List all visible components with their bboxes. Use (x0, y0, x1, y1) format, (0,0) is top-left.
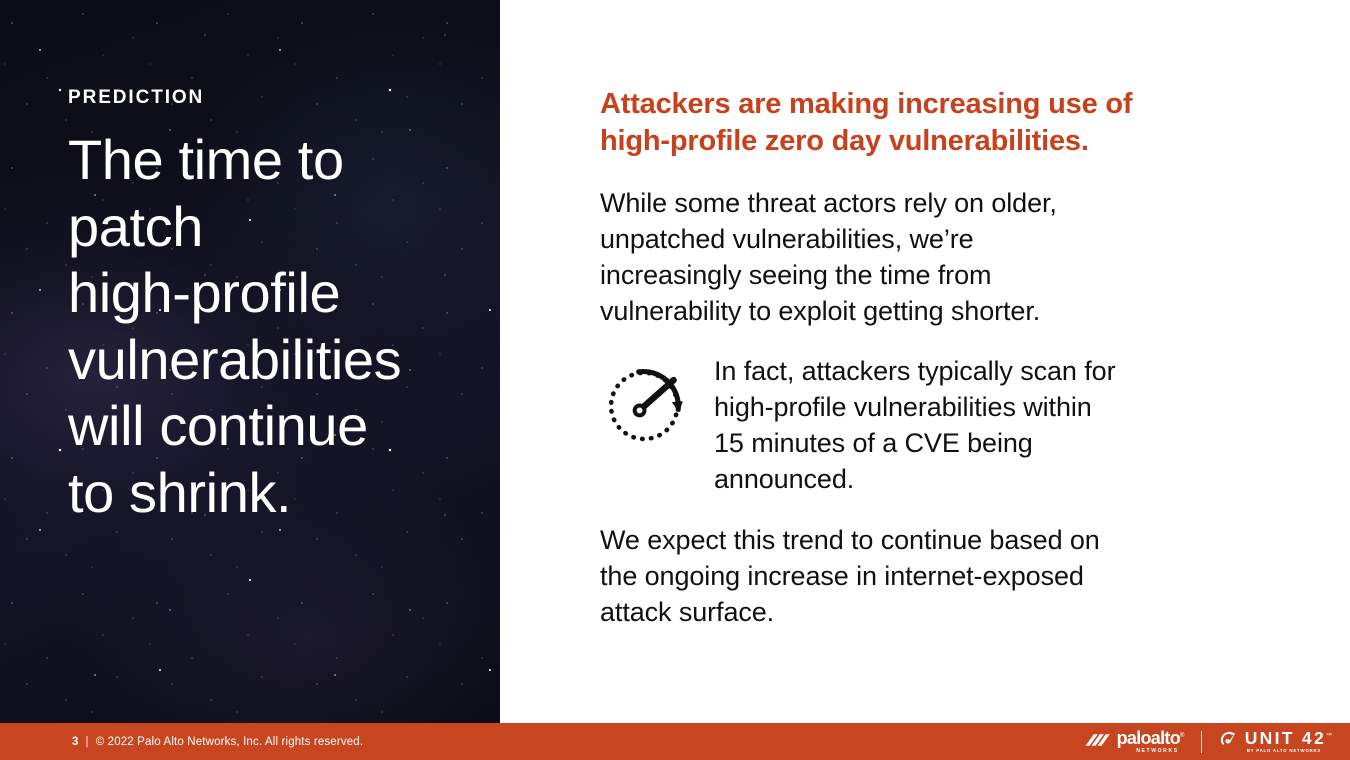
footer-copyright-block: 3 | © 2022 Palo Alto Networks, Inc. All … (72, 736, 363, 748)
palo-alto-trademark: ® (1180, 733, 1184, 739)
speed-clock-icon (600, 358, 692, 450)
body-paragraph-2: We expect this trend to continue based o… (600, 523, 1260, 631)
fact-callout: In fact, attackers typically scan for hi… (600, 354, 1260, 498)
right-panel: Attackers are making increasing use of h… (500, 0, 1350, 723)
slide-footer-bar: 3 | © 2022 Palo Alto Networks, Inc. All … (0, 723, 1350, 760)
palo-alto-wordmark-text: paloalto (1117, 728, 1180, 748)
prediction-headline: The time to patch high-profile vulnerabi… (68, 127, 488, 527)
unit-42-wordmark: UNIT 42™ BY PALO ALTO NETWORKS (1245, 730, 1332, 754)
footer-logo-divider (1201, 731, 1202, 753)
fact-callout-text: In fact, attackers typically scan for hi… (714, 354, 1115, 498)
right-panel-content: Attackers are making increasing use of h… (600, 86, 1260, 655)
footer-separator: | (86, 736, 89, 748)
palo-alto-subtext: NETWORKS (1136, 749, 1179, 754)
palo-alto-wordmark: paloalto® NETWORKS (1117, 729, 1184, 754)
footer-copyright-text: © 2022 Palo Alto Networks, Inc. All righ… (96, 736, 363, 748)
footer-page-number: 3 (72, 736, 79, 748)
section-kicker-heading: Attackers are making increasing use of h… (600, 86, 1260, 160)
body-paragraph-1: While some threat actors rely on older, … (600, 186, 1260, 330)
footer-logo-group: paloalto® NETWORKS UNIT 42™ (1084, 729, 1332, 754)
unit-42-subtext: BY PALO ALTO NETWORKS (1247, 749, 1321, 753)
unit-42-wordmark-text: UNIT 42 (1245, 728, 1326, 748)
left-panel-content: PREDICTION The time to patch high-profil… (68, 88, 488, 527)
unit-42-logo: UNIT 42™ BY PALO ALTO NETWORKS (1219, 729, 1332, 754)
slide: PREDICTION The time to patch high-profil… (0, 0, 1350, 760)
palo-alto-networks-mark-icon (1084, 732, 1110, 752)
unit-42-trademark: ™ (1326, 733, 1332, 739)
palo-alto-networks-logo: paloalto® NETWORKS (1084, 729, 1184, 754)
prediction-eyebrow-label: PREDICTION (68, 88, 488, 109)
unit-42-swoosh-icon (1219, 729, 1239, 754)
left-panel-starfield: PREDICTION The time to patch high-profil… (0, 0, 500, 723)
